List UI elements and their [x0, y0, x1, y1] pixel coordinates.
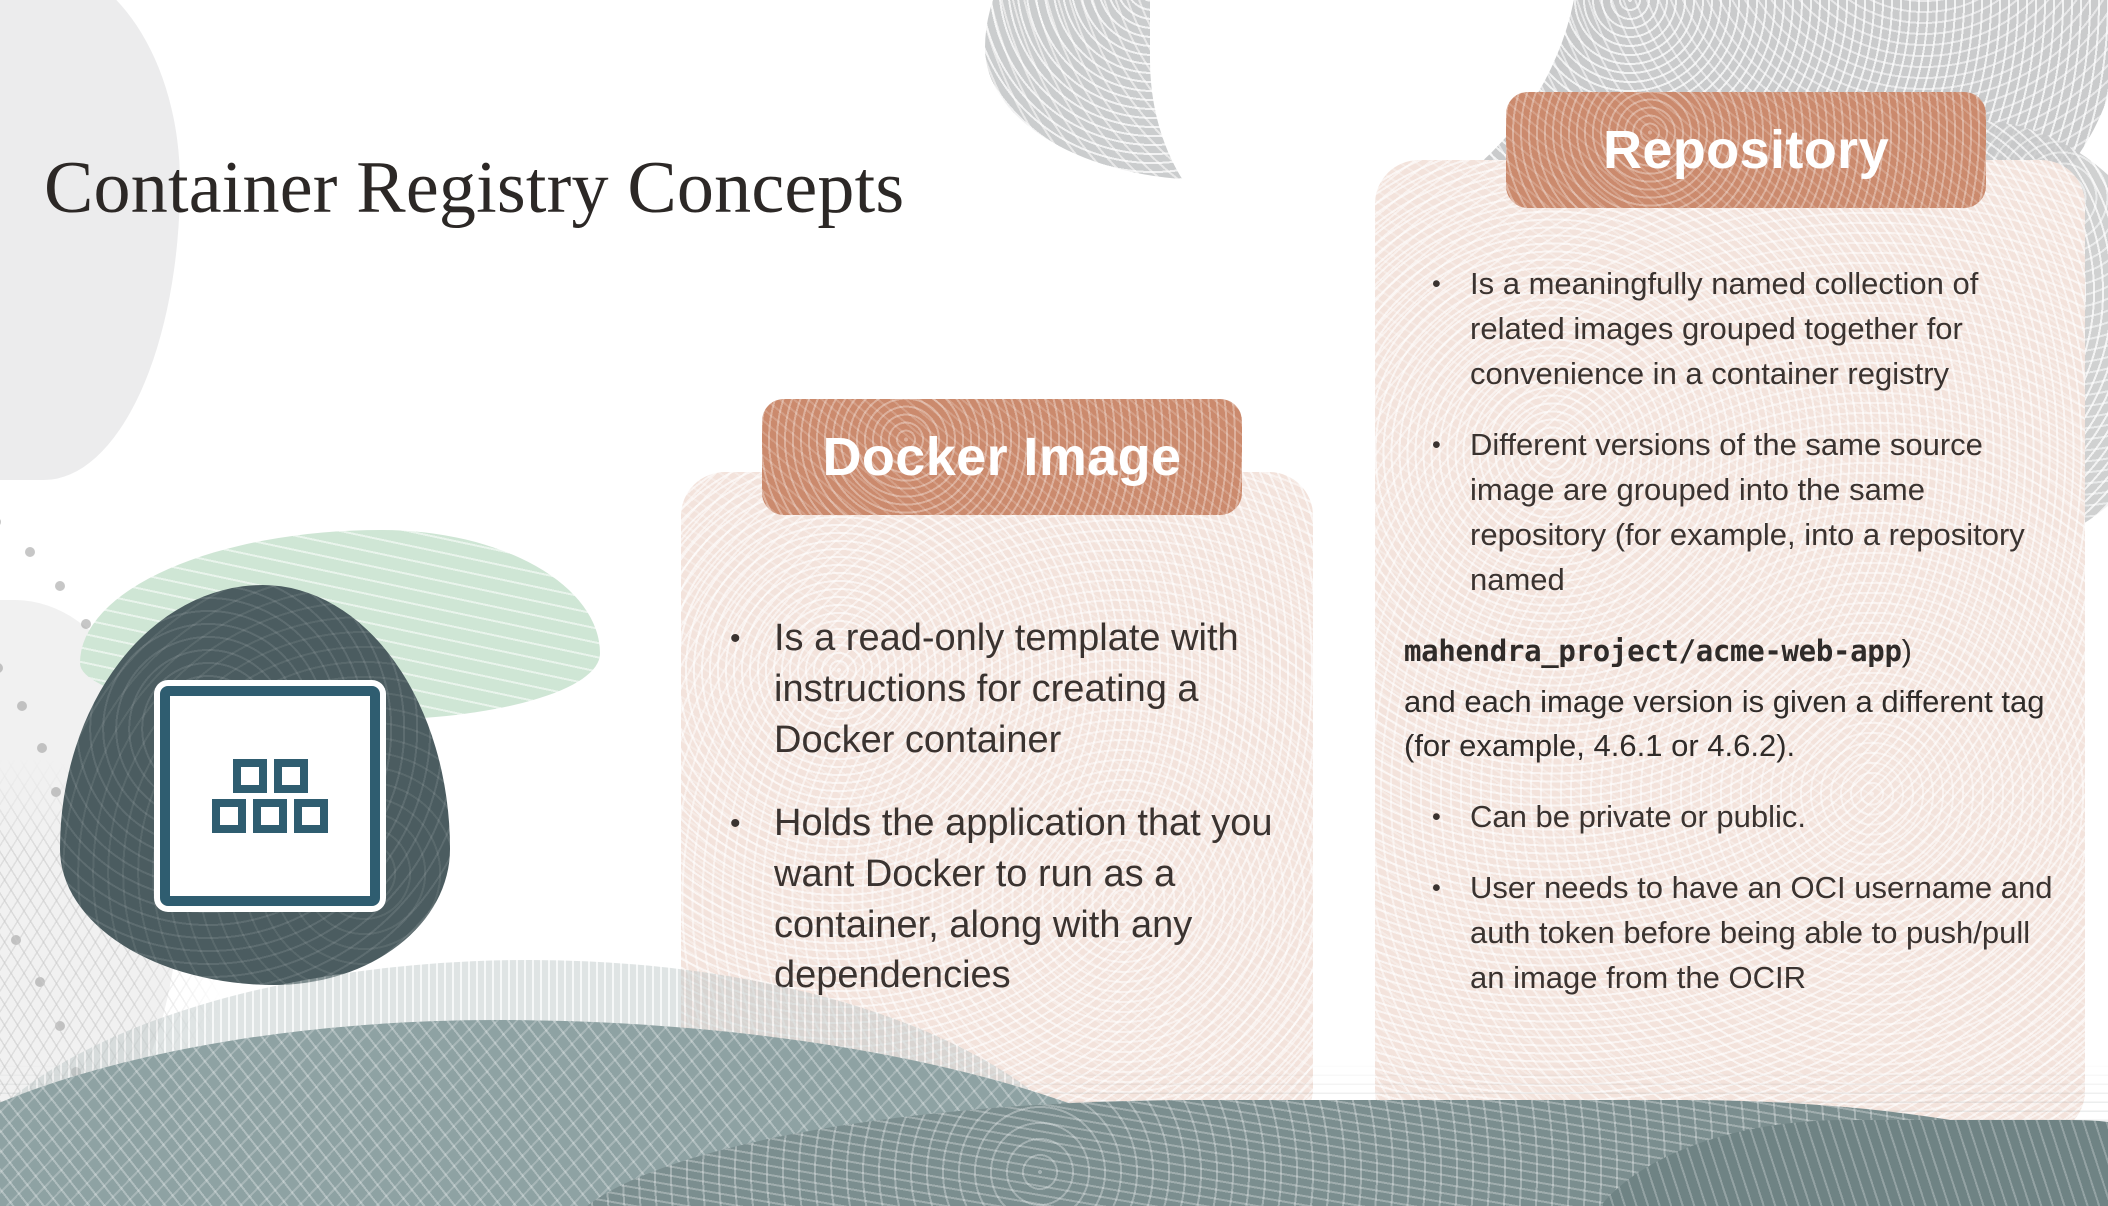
block-tile	[253, 799, 287, 833]
list-item-text: Is a read-only template with instruction…	[774, 613, 1290, 766]
top-right-grey-blob-a	[985, 0, 1545, 180]
block-tile	[274, 759, 308, 793]
bullet-dot-icon: •	[1432, 423, 1462, 468]
top-left-grey-shape	[0, 0, 180, 480]
repository-code-example: mahendra_project/acme-web-app) and each …	[1404, 629, 2064, 770]
bullet-dot-icon: •	[730, 613, 766, 664]
block-tile	[233, 759, 267, 793]
page-title: Container Registry Concepts	[44, 150, 904, 228]
list-item-text: User needs to have an OCI username and a…	[1470, 866, 2062, 1001]
repository-code-tail: and each image version is given a differ…	[1404, 680, 2064, 770]
top-right-light-blob	[1230, 0, 1650, 100]
repository-badge: Repository	[1506, 92, 1986, 208]
list-item: • Different versions of the same source …	[1432, 423, 2062, 603]
repository-bullet-list: • Is a meaningfully named collection of …	[1432, 262, 2062, 1027]
bullet-dot-icon: •	[730, 798, 766, 849]
list-item: • Can be private or public.	[1432, 795, 2062, 840]
list-item: • Is a meaningfully named collection of …	[1432, 262, 2062, 397]
bullet-dot-icon: •	[1432, 866, 1462, 911]
list-item-text: Holds the application that you want Dock…	[774, 798, 1290, 1002]
slide-canvas: Container Registry Concepts Docker Image…	[0, 0, 2108, 1206]
close-paren: )	[1902, 633, 1912, 668]
list-item-text: Can be private or public.	[1470, 795, 2062, 840]
list-item: • Holds the application that you want Do…	[730, 798, 1290, 1002]
list-item-text: Different versions of the same source im…	[1470, 423, 2062, 603]
bullet-dot-icon: •	[1432, 262, 1462, 307]
left-grey-shape	[0, 600, 180, 1160]
list-item-text: Is a meaningfully named collection of re…	[1470, 262, 2062, 397]
docker-image-bullet-list: • Is a read-only template with instructi…	[730, 613, 1290, 1033]
list-item: • User needs to have an OCI username and…	[1432, 866, 2062, 1001]
container-blocks-icon	[160, 686, 380, 906]
list-item: • Is a read-only template with instructi…	[730, 613, 1290, 766]
block-tile	[212, 799, 246, 833]
docker-image-badge: Docker Image	[762, 399, 1242, 515]
repository-name-code: mahendra_project/acme-web-app	[1404, 634, 1902, 668]
bullet-dot-icon: •	[1432, 795, 1462, 840]
block-tile	[294, 799, 328, 833]
